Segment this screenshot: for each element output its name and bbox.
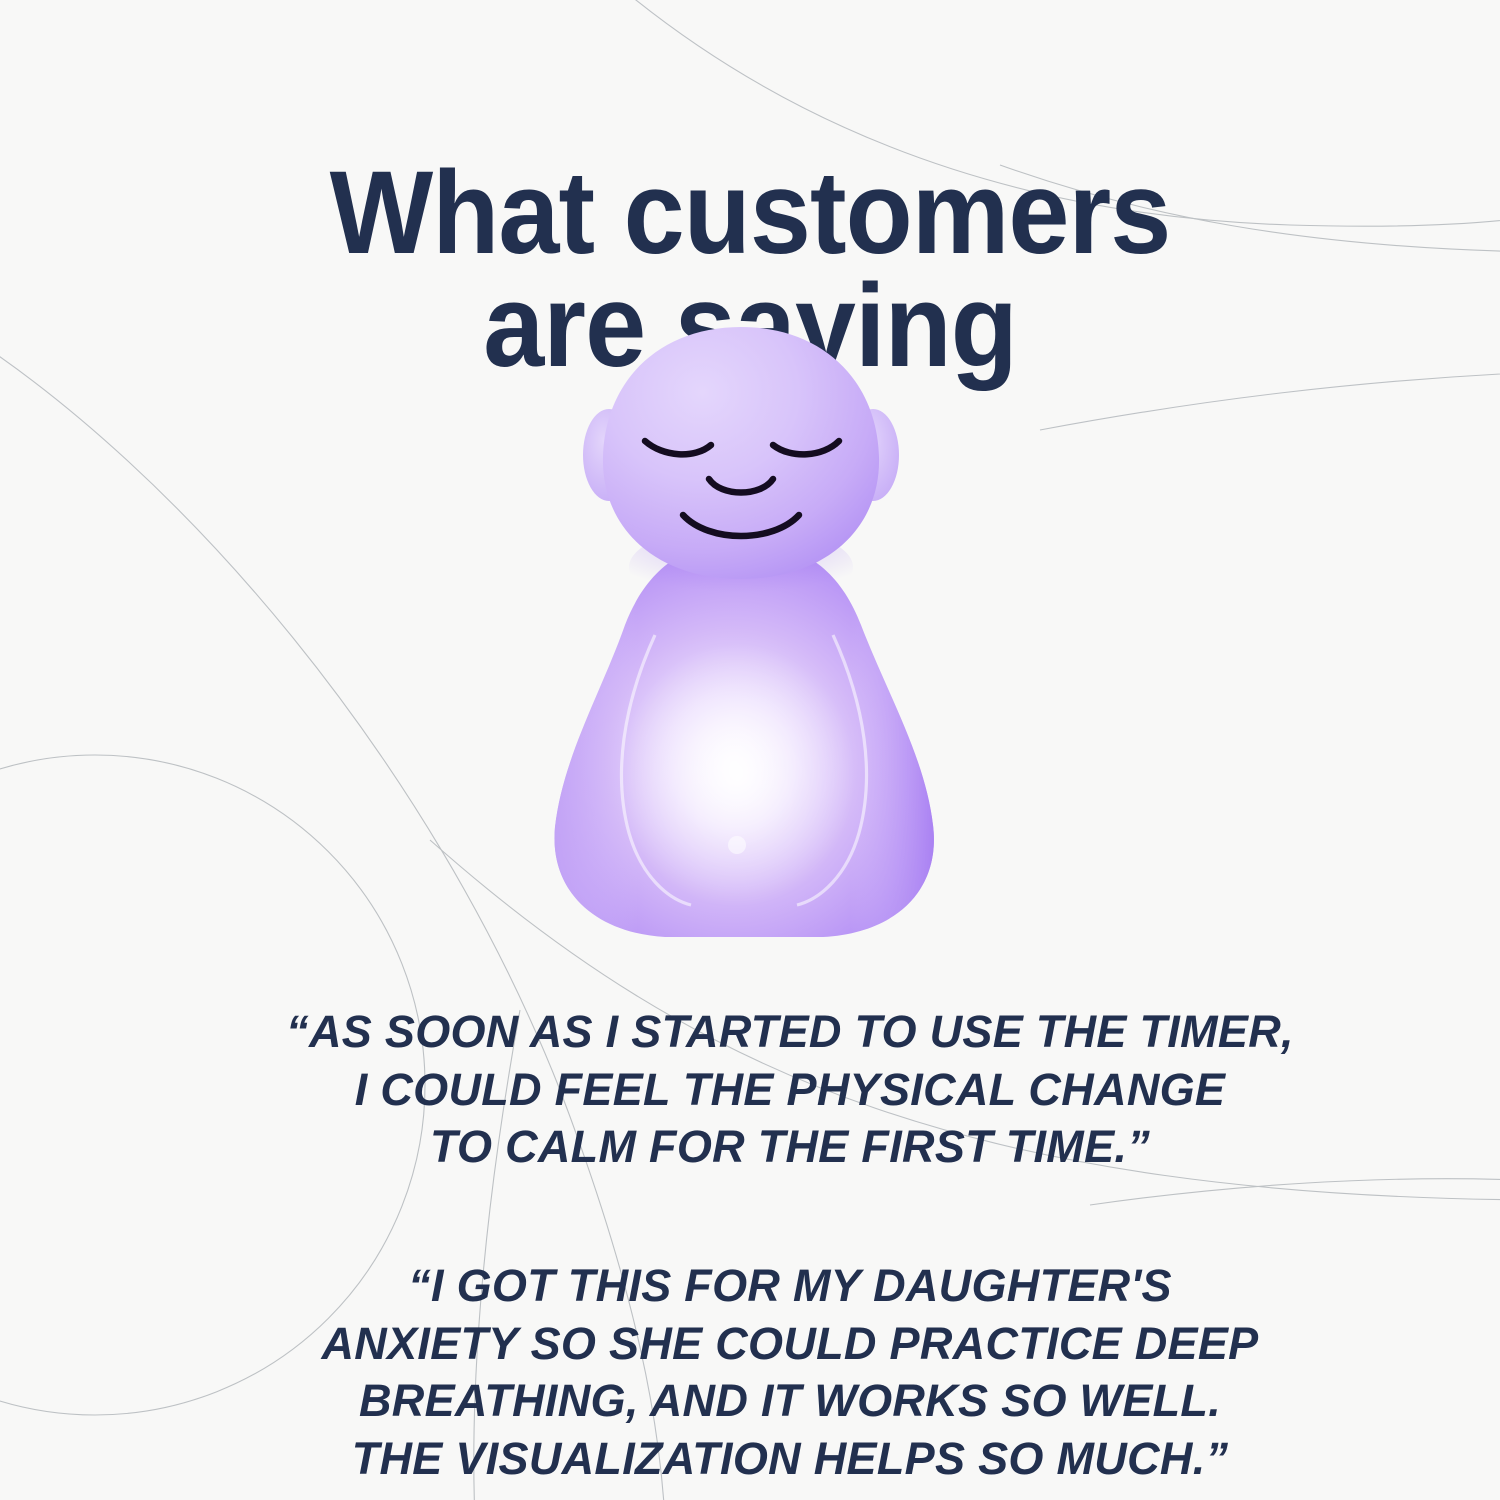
- testimonial-line: “I GOT THIS FOR MY DAUGHTER'S: [40, 1257, 1500, 1315]
- testimonial-quote-2: “I GOT THIS FOR MY DAUGHTER'S ANXIETY SO…: [40, 1257, 1500, 1487]
- product-image-meditating-night-light: [505, 305, 995, 955]
- testimonial-line: “AS SOON AS I STARTED TO USE THE TIMER,: [40, 1003, 1500, 1061]
- testimonial-quote-1: “AS SOON AS I STARTED TO USE THE TIMER, …: [40, 1003, 1500, 1176]
- product-head: [603, 327, 879, 579]
- decor-arc-7: [1090, 1179, 1500, 1205]
- belly-glow: [619, 643, 855, 907]
- testimonial-line: TO CALM FOR THE FIRST TIME.”: [40, 1118, 1500, 1176]
- testimonial-line: THE VISUALIZATION HELPS SO MUCH.”: [40, 1430, 1500, 1488]
- testimonial-line: BREATHING, AND IT WORKS SO WELL.: [40, 1372, 1500, 1430]
- testimonial-line: ANXIETY SO SHE COULD PRACTICE DEEP: [40, 1315, 1500, 1373]
- testimonial-line: I COULD FEEL THE PHYSICAL CHANGE: [40, 1061, 1500, 1119]
- light-source-dot: [728, 836, 746, 854]
- page-title-line-1: What customers: [53, 157, 1448, 270]
- testimonial-card: What customers are saying: [0, 0, 1500, 1500]
